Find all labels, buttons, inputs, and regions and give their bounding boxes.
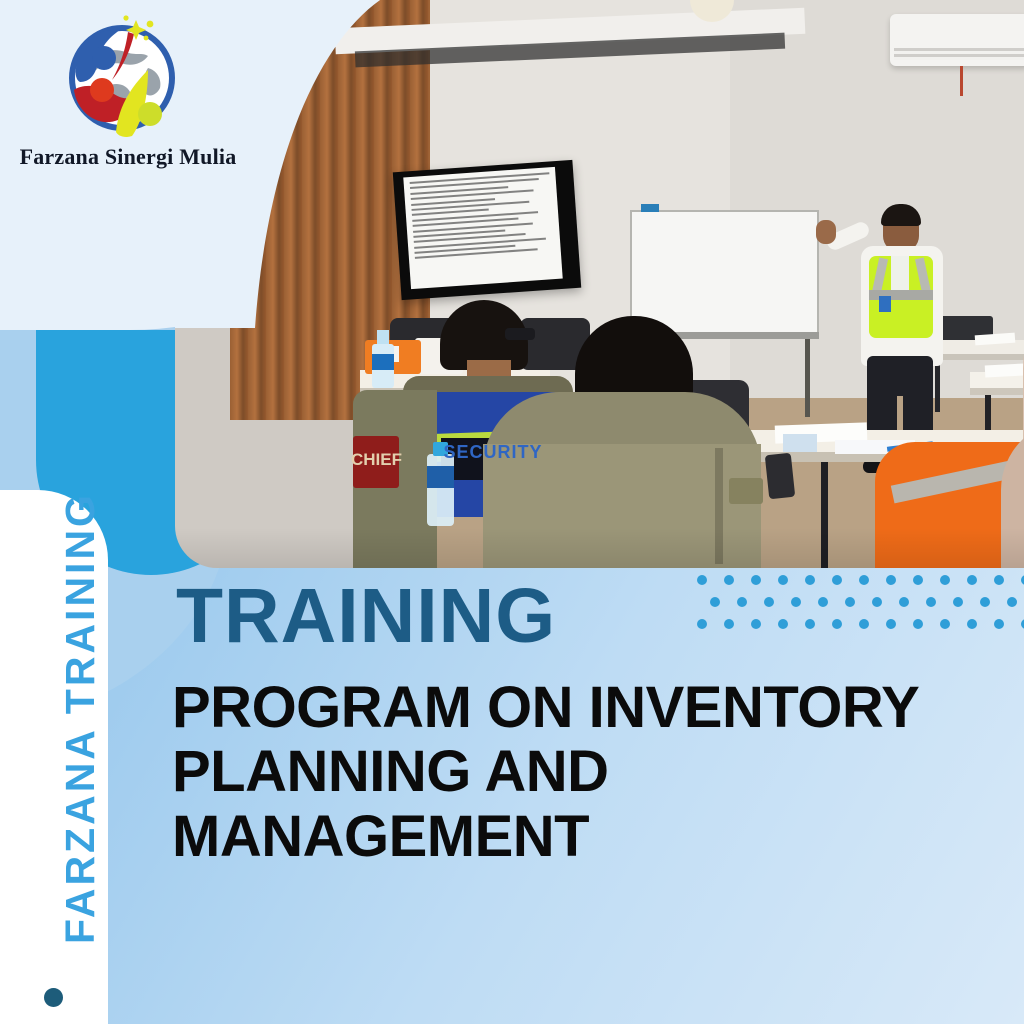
vertical-brand-label-text: FARZANA TRAINING	[57, 492, 104, 944]
globe-people-logo-icon	[56, 12, 186, 140]
photo-ac-cable	[960, 66, 963, 96]
photo-whiteboard	[630, 210, 819, 336]
decor-dot-grid	[697, 575, 1024, 641]
vertical-brand-label: FARZANA TRAINING	[50, 438, 110, 998]
photo-phone	[765, 453, 795, 499]
photo-paper	[985, 362, 1024, 377]
photo-water-bottle-foreground	[427, 454, 454, 526]
photo-whiteboard-leg	[805, 339, 810, 417]
brand-company-name: Farzana Sinergi Mulia	[8, 144, 248, 170]
photo-presenter-id-badge	[879, 296, 891, 312]
photo-water-bottle-label	[427, 466, 454, 488]
photo-vest-security-text: SECURITY	[441, 442, 545, 463]
photo-water-bottle-cap	[377, 330, 389, 344]
photo-water-bottle-label	[372, 354, 394, 370]
photo-tv-screen	[403, 167, 562, 289]
photo-participant-glasses-icon	[505, 328, 535, 340]
photo-uniform-pocket	[729, 478, 763, 504]
photo-blue-booklet	[783, 434, 817, 452]
decor-dot-bottom-left	[44, 988, 63, 1007]
photo-presenter-hand	[816, 220, 836, 244]
photo-tv-slide-text	[410, 172, 557, 284]
page-subtitle-line1: PROGRAM ON INVENTORY	[172, 676, 1024, 740]
photo-chief-patch-text: CHIEF	[351, 450, 399, 470]
training-photo: SECURITY CHIEF	[175, 0, 1024, 568]
brand-logo: Farzana Sinergi Mulia	[8, 8, 248, 188]
photo-whiteboard-marker	[641, 204, 659, 212]
poster-canvas: SECURITY CHIEF	[0, 0, 1024, 1024]
photo-table-leg	[935, 360, 940, 412]
photo-bottom-shadow	[175, 528, 1024, 568]
photo-ac-vent	[894, 48, 1024, 60]
page-subtitle: PROGRAM ON INVENTORY PLANNING AND MANAGE…	[172, 676, 1024, 869]
photo-right-table-edge	[970, 388, 1024, 395]
page-subtitle-line2: PLANNING AND MANAGEMENT	[172, 740, 1024, 869]
page-title: TRAINING	[176, 578, 556, 655]
